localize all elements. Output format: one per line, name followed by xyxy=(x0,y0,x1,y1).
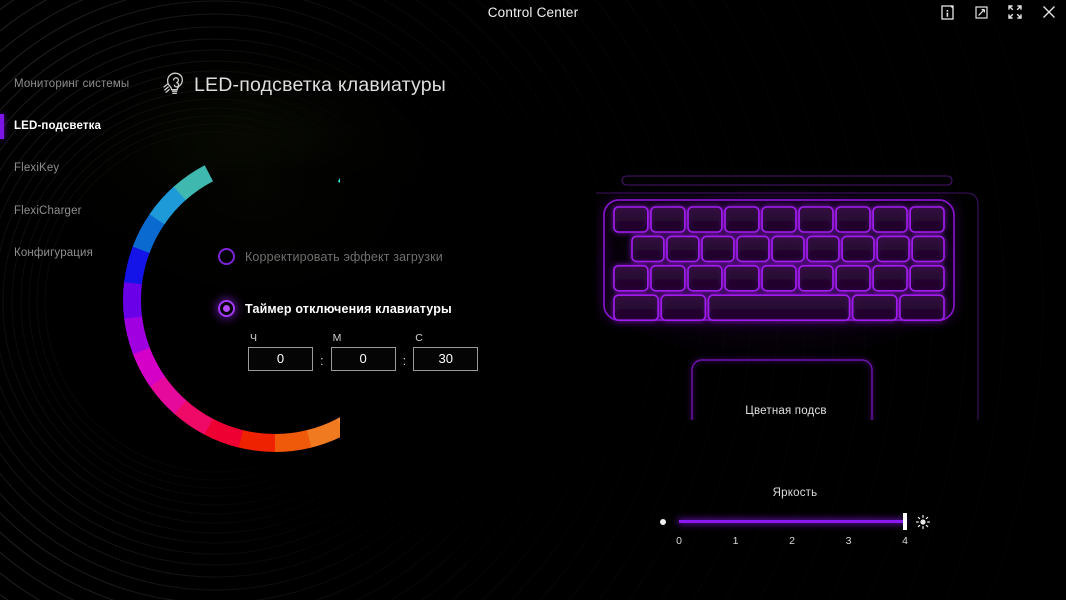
keyboard-key[interactable] xyxy=(762,207,796,232)
color-wheel-segment[interactable] xyxy=(123,281,142,319)
sidebar: Мониторинг системы LED-подсветка FlexiKe… xyxy=(0,70,150,281)
sidebar-item-label: FlexiKey xyxy=(14,162,59,174)
keyboard-key[interactable] xyxy=(661,295,705,320)
keyboard-key[interactable] xyxy=(688,207,722,232)
timer-minutes-label: М xyxy=(331,332,396,344)
color-wheel-segment[interactable] xyxy=(274,430,311,452)
keyboard-key[interactable] xyxy=(651,266,685,291)
brightness-tick: 1 xyxy=(733,535,739,547)
timer-separator: : xyxy=(396,353,414,371)
timer-seconds-field: С 30 xyxy=(413,332,478,371)
brightness-slider-row xyxy=(660,513,930,531)
radio-dot xyxy=(223,305,230,312)
keyboard-key[interactable] xyxy=(873,266,907,291)
control-center-window: Control Center xyxy=(0,0,1066,600)
keyboard-key[interactable] xyxy=(836,266,870,291)
timer-hours-field: Ч 0 xyxy=(248,332,313,371)
keyboard-key[interactable] xyxy=(807,236,839,261)
spacer xyxy=(218,265,452,300)
close-icon-button[interactable] xyxy=(1032,0,1066,24)
sidebar-item-led-backlight[interactable]: LED-подсветка xyxy=(0,112,150,141)
brightness-tick: 3 xyxy=(846,535,852,547)
sidebar-item-configuration[interactable]: Конфигурация xyxy=(0,239,150,268)
option-label: Корректировать эффект загрузки xyxy=(245,250,443,264)
timer-minutes-field: М 0 xyxy=(331,332,396,371)
option-label: Таймер отключения клавиатуры xyxy=(245,302,452,316)
color-wheel-segment[interactable] xyxy=(124,315,150,354)
keyboard-key[interactable] xyxy=(614,207,648,232)
keyboard-key[interactable] xyxy=(910,207,944,232)
brightness-tick: 2 xyxy=(789,535,795,547)
sidebar-item-label: FlexiCharger xyxy=(14,205,82,217)
keyboard-key[interactable] xyxy=(912,236,944,261)
keyboard-key[interactable] xyxy=(725,266,759,291)
sidebar-item-flexikey[interactable]: FlexiKey xyxy=(0,154,150,183)
keyboard-key[interactable] xyxy=(799,266,833,291)
timer-seconds-label: С xyxy=(413,332,478,344)
keyboard-key[interactable] xyxy=(873,207,907,232)
timer-minutes-input[interactable]: 0 xyxy=(331,347,396,371)
sun-icon xyxy=(916,515,930,529)
option-boot-effect[interactable]: Корректировать эффект загрузки xyxy=(218,248,452,265)
color-wheel-segment[interactable] xyxy=(306,419,340,448)
dim-dot-icon xyxy=(660,519,666,525)
keyboard-key[interactable] xyxy=(772,236,804,261)
keyboard-key[interactable] xyxy=(853,295,897,320)
option-keyboard-timer[interactable]: Таймер отключения клавиатуры xyxy=(218,300,452,317)
keyboard-key[interactable] xyxy=(614,266,648,291)
info-icon-button[interactable] xyxy=(930,0,964,24)
keyboard-key[interactable] xyxy=(737,236,769,261)
lightbulb-icon xyxy=(160,68,192,102)
keyboard-key[interactable] xyxy=(709,295,850,320)
keyboard-key[interactable] xyxy=(667,236,699,261)
brightness-control: Яркость 01234 xyxy=(660,487,930,549)
brightness-tick: 4 xyxy=(902,535,908,547)
timer-separator: : xyxy=(313,353,331,371)
keyboard-key[interactable] xyxy=(651,207,685,232)
keyboard-key[interactable] xyxy=(842,236,874,261)
keyboard-key[interactable] xyxy=(632,236,664,261)
color-wheel-segment[interactable] xyxy=(238,430,275,452)
brightness-ticks: 01234 xyxy=(679,535,930,549)
brightness-label: Яркость xyxy=(660,487,930,499)
keyboard-key[interactable] xyxy=(877,236,909,261)
brightness-tick: 0 xyxy=(676,535,682,547)
keyboard-key[interactable] xyxy=(799,207,833,232)
color-wheel-segment[interactable] xyxy=(338,166,340,201)
active-accent-bar xyxy=(0,114,4,139)
window-title: Control Center xyxy=(488,5,579,20)
page-title: LED-подсветка клавиатуры xyxy=(194,74,446,97)
restore-icon xyxy=(975,6,988,19)
sidebar-item-label: Конфигурация xyxy=(14,247,93,259)
sidebar-item-system-monitor[interactable]: Мониторинг системы xyxy=(0,70,150,99)
keyboard-key[interactable] xyxy=(836,207,870,232)
slider-fill xyxy=(679,520,905,523)
timer-controls: Ч 0 : М 0 : С 30 xyxy=(248,332,478,371)
timer-hours-input[interactable]: 0 xyxy=(248,347,313,371)
keyboard-key[interactable] xyxy=(725,207,759,232)
sidebar-item-label: Мониторинг системы xyxy=(14,78,129,90)
close-icon xyxy=(1042,5,1056,19)
slider-thumb[interactable] xyxy=(903,513,907,530)
maximize-icon-button[interactable] xyxy=(998,0,1032,24)
info-icon xyxy=(941,5,954,20)
restore-icon-button[interactable] xyxy=(964,0,998,24)
title-bar: Control Center xyxy=(0,0,1066,24)
keyboard-key[interactable] xyxy=(688,266,722,291)
brightness-slider[interactable] xyxy=(679,513,905,531)
keyboard-key[interactable] xyxy=(702,236,734,261)
radio-button[interactable] xyxy=(218,248,235,265)
options-group: Корректировать эффект загрузки Таймер от… xyxy=(218,248,452,317)
timer-hours-label: Ч xyxy=(248,332,313,344)
timer-seconds-input[interactable]: 30 xyxy=(413,347,478,371)
keyboard-key[interactable] xyxy=(762,266,796,291)
keyboard-key[interactable] xyxy=(900,295,944,320)
keyboard-key[interactable] xyxy=(910,266,944,291)
page-header: LED-подсветка клавиатуры xyxy=(160,68,446,102)
sidebar-item-flexicharger[interactable]: FlexiCharger xyxy=(0,197,150,226)
keyboard-key[interactable] xyxy=(614,295,658,320)
keyboard-caption: Цветная подсв xyxy=(686,405,886,417)
window-controls xyxy=(930,0,1066,24)
maximize-icon xyxy=(1008,5,1022,19)
sidebar-item-label: LED-подсветка xyxy=(14,120,101,132)
radio-button[interactable] xyxy=(218,300,235,317)
keyboard-illustration[interactable] xyxy=(596,170,1006,420)
